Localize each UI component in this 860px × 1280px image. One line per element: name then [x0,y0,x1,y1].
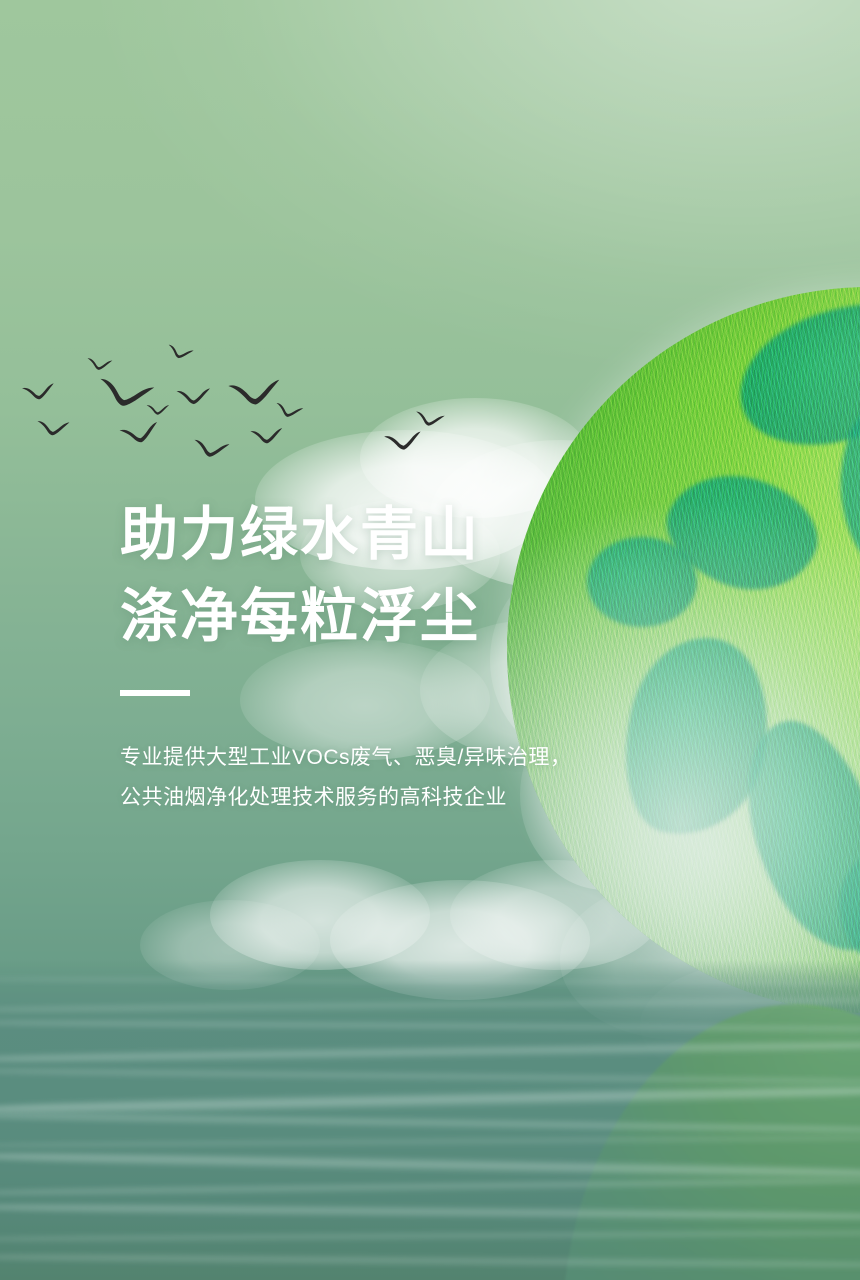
bird-icon [249,427,285,450]
flying-birds [0,0,860,520]
subtitle-line-2: 公共油烟净化处理技术服务的高科技企业 [120,778,760,818]
cloud [210,860,430,970]
bird-icon [85,357,113,375]
subtitle-line-1: 专业提供大型工业VOCs废气、恶臭/异味治理， [120,738,760,778]
cloud [450,860,660,970]
bird-icon [191,438,231,465]
bird-icon [21,382,57,407]
copy-block: 助力绿水青山 涤净每粒浮尘 专业提供大型工业VOCs废气、恶臭/异味治理， 公共… [120,494,760,818]
bird-icon [413,410,446,433]
bird-icon [273,401,305,424]
sky-haze [0,0,860,560]
continent-shape [725,287,860,463]
continent-shape [809,358,860,616]
subtitle-block: 专业提供大型工业VOCs废气、恶臭/异味治理， 公共油烟净化处理技术服务的高科技… [120,738,760,818]
headline-line-2: 涤净每粒浮尘 [120,576,760,658]
bird-icon [175,387,212,410]
bird-icon [383,430,425,458]
bird-icon [118,420,163,452]
bird-icon [93,375,156,419]
divider-rule [120,690,190,696]
promo-banner: 助力绿水青山 涤净每粒浮尘 专业提供大型工业VOCs废气、恶臭/异味治理， 公共… [0,0,860,1280]
bird-icon [226,377,283,415]
bird-icon [164,343,194,365]
headline-line-1: 助力绿水青山 [120,494,760,576]
bird-icon [146,404,170,418]
bird-icon [35,419,70,441]
